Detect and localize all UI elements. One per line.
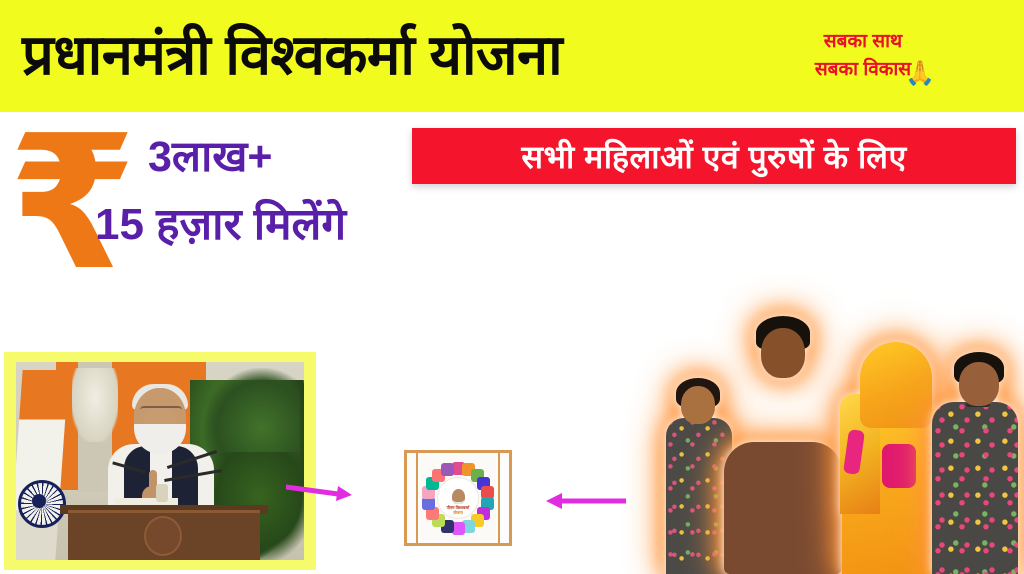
logo-inner-area: पीएम विश्वकर्मा योजना xyxy=(420,456,496,540)
trade-icon-18 xyxy=(441,463,454,476)
prime-minister-photo-frame xyxy=(4,352,316,570)
arrow-pointing-right xyxy=(286,478,352,506)
girl-left-face xyxy=(681,386,715,424)
slogan-line-1: सबका साथ xyxy=(778,28,948,56)
man-shirt xyxy=(724,442,842,574)
logo-frame-rail-left xyxy=(416,453,418,543)
family-member-man xyxy=(724,316,842,574)
eyeglasses-icon xyxy=(140,406,182,418)
lion-capital-icon xyxy=(156,484,168,502)
logo-pm-portrait-icon xyxy=(452,489,465,504)
arrow-pointing-left xyxy=(544,488,626,514)
girl-right-face xyxy=(959,362,999,406)
eligibility-banner-text: सभी महिलाओं एवं पुरुषों के लिए xyxy=(412,128,1016,184)
beneficiary-family-photo xyxy=(628,300,1020,574)
ashoka-chakra-hub xyxy=(32,494,46,508)
pm-vishwakarma-trades-circle: पीएम विश्वकर्मा योजना xyxy=(404,450,512,546)
logo-label-line-2: योजना xyxy=(453,510,463,515)
woman-blouse xyxy=(882,444,916,488)
page-title: प्रधानमंत्री विश्वकर्मा योजना xyxy=(22,16,562,94)
man-face xyxy=(761,328,805,378)
benefit-amount-primary: 3लाख+ xyxy=(148,131,273,183)
girl-left-dress xyxy=(666,418,732,574)
prime-minister-address-photo xyxy=(16,362,304,560)
national-emblem-icon xyxy=(144,516,182,556)
eligibility-banner: सभी महिलाओं एवं पुरुषों के लिए xyxy=(412,128,1016,184)
logo-frame-rail-right xyxy=(498,453,500,543)
photo-statue xyxy=(72,368,118,442)
poster-canvas: प्रधानमंत्री विश्वकर्मा योजना सबका साथ स… xyxy=(0,0,1024,574)
logo-center-disc: पीएम विश्वकर्मा योजना xyxy=(438,478,478,518)
benefit-amount-secondary: 15 हज़ार मिलेंगे xyxy=(95,198,346,252)
family-member-girl-right xyxy=(932,352,1018,574)
woman-veil-opening xyxy=(875,354,915,400)
namaste-icon: 🙏 xyxy=(905,62,935,86)
girl-right-dress xyxy=(932,402,1018,574)
